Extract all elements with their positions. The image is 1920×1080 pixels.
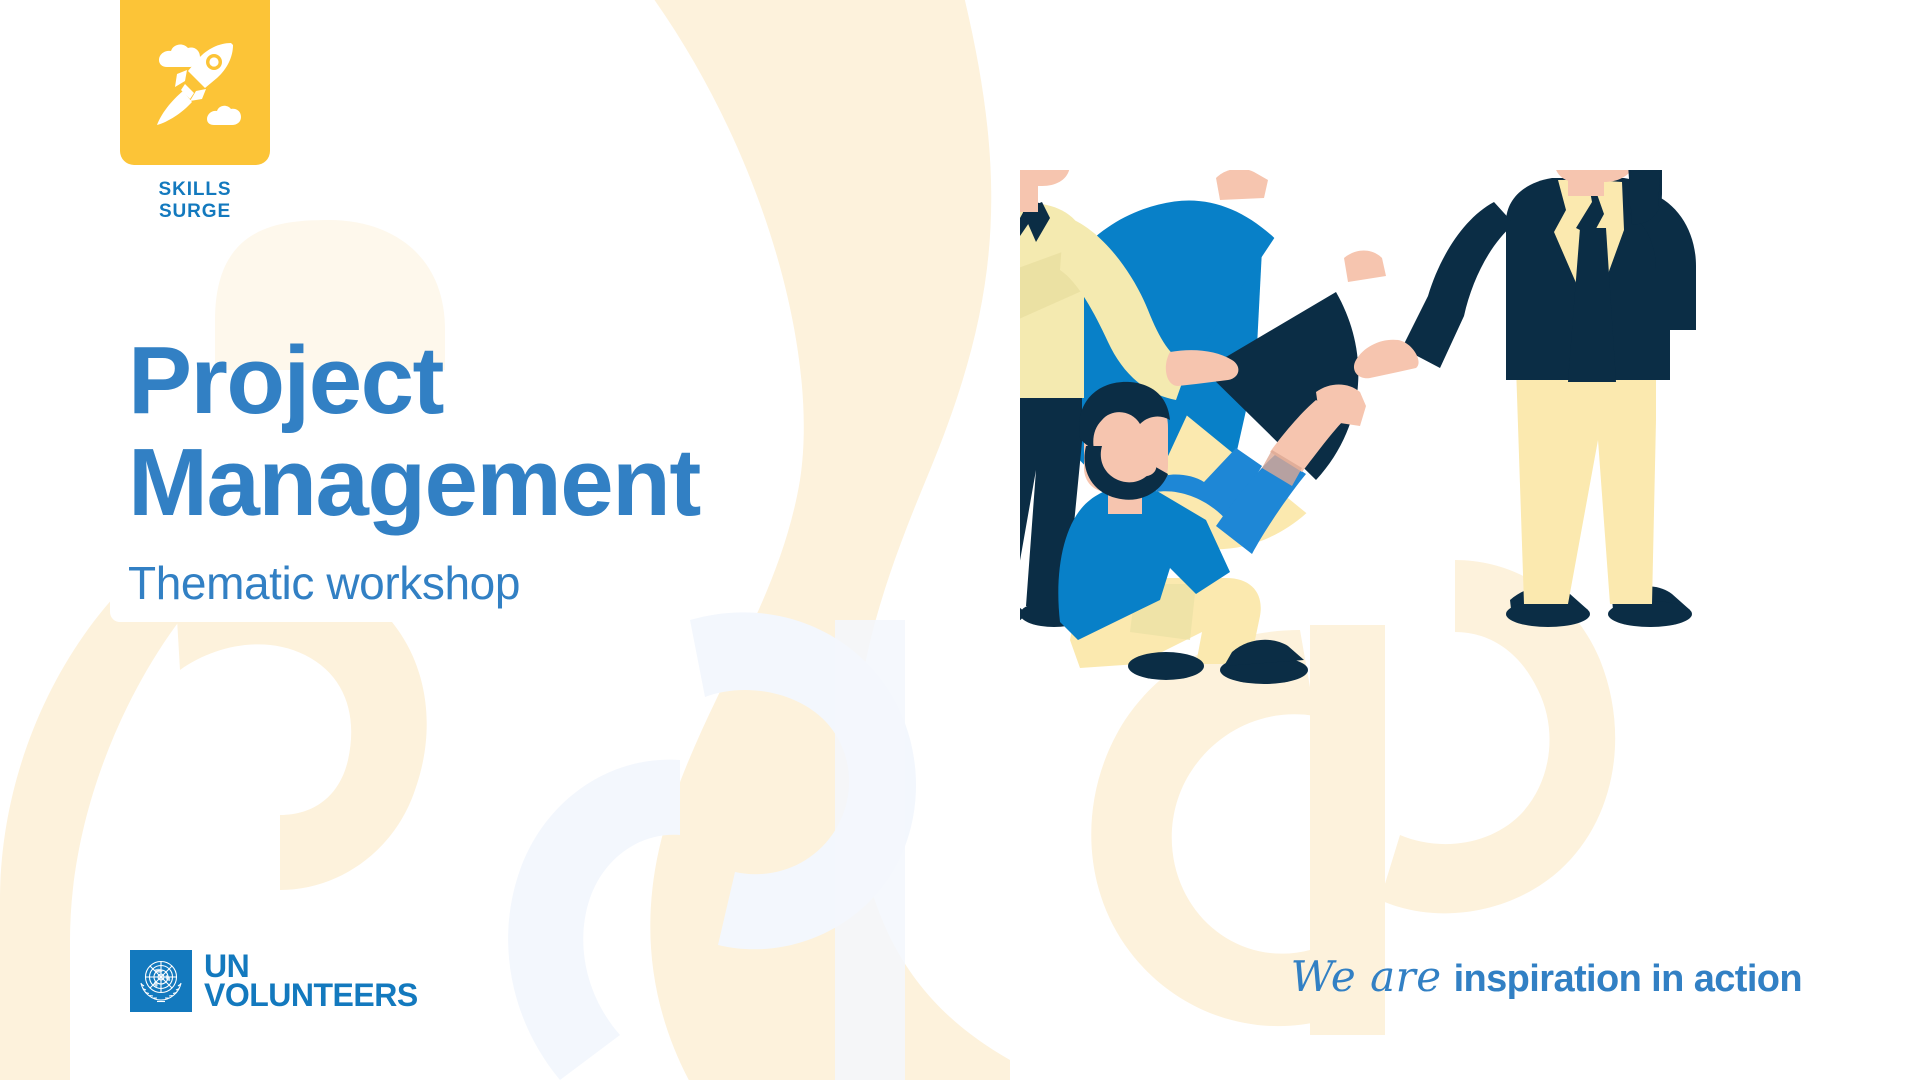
woman-left-hand (1354, 340, 1419, 379)
woman-left-arm (1402, 202, 1514, 368)
left-man-upper-hand (1216, 170, 1268, 200)
woman-shoe-right-sole (1608, 601, 1692, 627)
skills-surge-label: SKILLS SURGE (120, 179, 270, 223)
woman-hair-side (1628, 170, 1662, 206)
woman-trousers (1516, 366, 1656, 604)
figure-standing-woman-right (1344, 170, 1696, 627)
tagline-bold-part: inspiration in action (1454, 958, 1802, 1001)
woman-shoe-left-sole (1506, 601, 1590, 627)
seated-man-hand (1316, 385, 1366, 427)
title-line-2: Management (128, 432, 888, 534)
subtitle-chip: Thematic workshop (110, 548, 538, 622)
title-line-1: Project (128, 330, 888, 432)
left-man-head (1020, 170, 1070, 186)
skills-surge-logo-tile (120, 0, 270, 165)
pale-blue-stroke-3 (835, 620, 905, 1080)
skills-surge-brand: SKILLS SURGE (120, 0, 270, 223)
subtitle-container: Thematic workshop (110, 548, 538, 622)
un-volunteers-logo: UN VOLUNTEERS (130, 950, 418, 1012)
rocket-icon (141, 29, 249, 137)
slide-canvas: SKILLS SURGE Project Management Thematic… (0, 0, 1920, 1080)
tagline: We are inspiration in action (1291, 952, 1802, 1001)
page-title: Project Management (128, 330, 888, 534)
pale-blue-stroke-2 (690, 612, 916, 949)
seated-man-shoe-back (1128, 652, 1204, 680)
un-wordmark: UN VOLUNTEERS (204, 952, 418, 1011)
tagline-script-part: We are (1291, 952, 1442, 1001)
teamwork-pie-chart-illustration (1020, 170, 1820, 810)
cream-swoosh-shape (640, 0, 1010, 1080)
pale-blue-stroke-1 (508, 760, 680, 1080)
woman-corner-hand (1344, 251, 1386, 283)
un-emblem-icon (130, 950, 192, 1012)
un-wordmark-line-2: VOLUNTEERS (204, 981, 418, 1010)
